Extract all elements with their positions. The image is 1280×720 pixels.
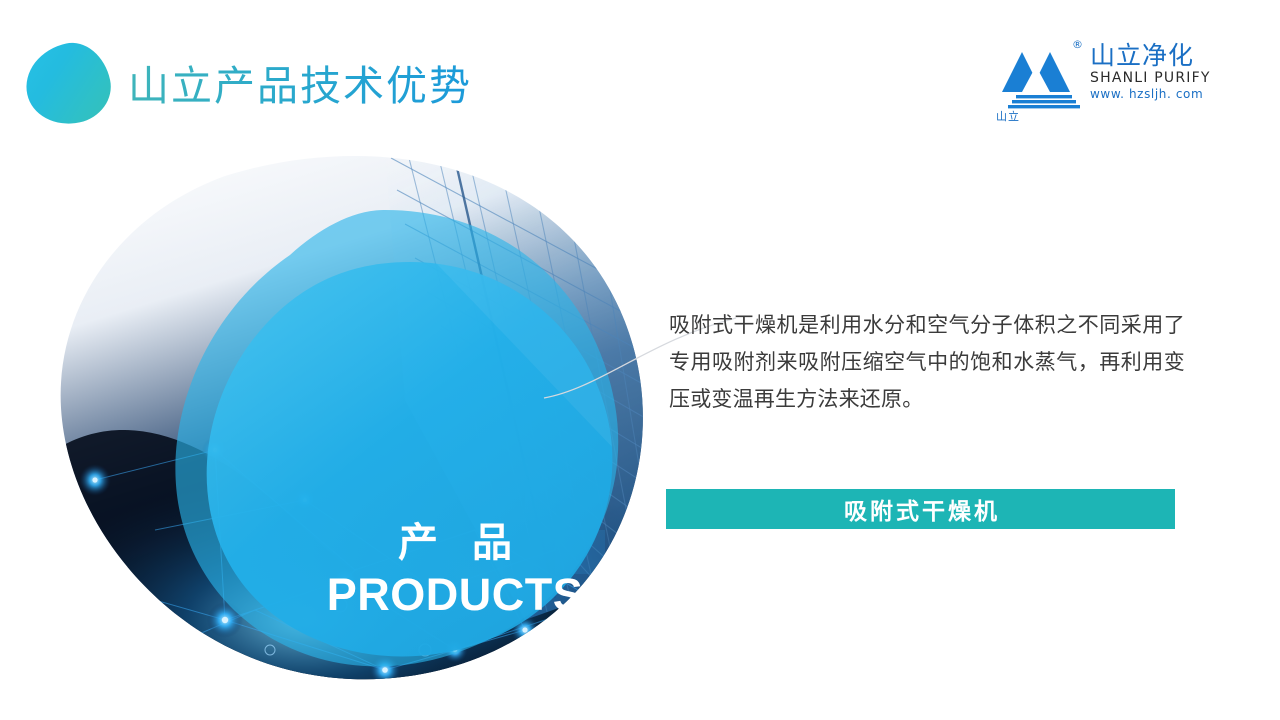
product-name-banner[interactable]: 吸附式干燥机 bbox=[666, 489, 1175, 529]
slide-header: 山立产品技术优势 ® 山立 山立净化 SHANLI PURIFY www. hz… bbox=[0, 0, 1280, 150]
product-graphic: 产 品 PRODUCTS bbox=[55, 150, 665, 690]
shanli-mountain-logo-icon bbox=[994, 40, 1080, 110]
blob-decoration-icon bbox=[19, 36, 118, 132]
logo-company-cn: 山立净化 bbox=[1090, 42, 1220, 70]
product-blob-illustration-icon bbox=[55, 150, 665, 690]
logo-company-en: SHANLI PURIFY bbox=[1090, 70, 1220, 87]
slide-root: 山立产品技术优势 ® 山立 山立净化 SHANLI PURIFY www. hz… bbox=[0, 0, 1280, 720]
product-name-label: 吸附式干燥机 bbox=[841, 492, 1000, 526]
product-description: 吸附式干燥机是利用水分和空气分子体积之不同采用了专用吸附剂来吸附压缩空气中的饱和… bbox=[669, 307, 1185, 418]
logo-website: www. hzsljh. com bbox=[1090, 87, 1220, 102]
logo-mark-caption: 山立 bbox=[996, 108, 1020, 124]
company-logo: ® 山立 山立净化 SHANLI PURIFY www. hzsljh. com bbox=[994, 36, 1218, 122]
page-title: 山立产品技术优势 bbox=[128, 58, 472, 114]
registered-trademark-icon: ® bbox=[1072, 38, 1083, 51]
logo-textblock: 山立净化 SHANLI PURIFY www. hzsljh. com bbox=[1090, 42, 1220, 102]
